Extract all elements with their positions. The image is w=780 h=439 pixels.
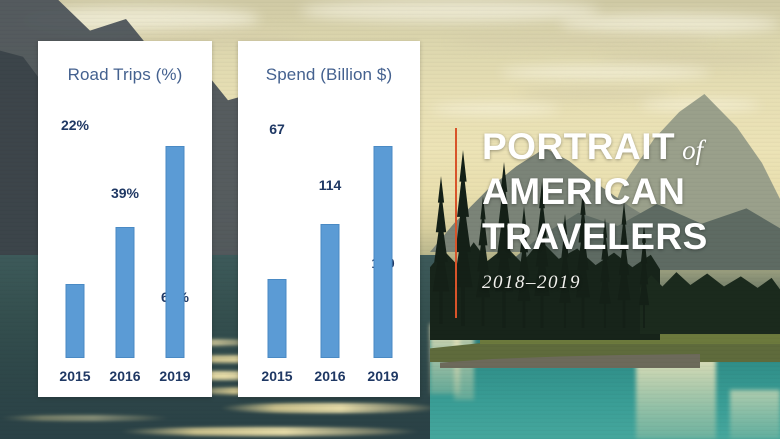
bar-group: 39% 2016 <box>98 99 152 397</box>
bar-value-label: 39% <box>111 185 139 201</box>
category-label: 2019 <box>367 368 398 384</box>
screenshot-root: Road Trips (%) 22% 2015 39% 2016 63% 201… <box>0 0 780 439</box>
orange-vertical-line <box>455 128 457 318</box>
category-label: 2015 <box>59 368 90 384</box>
sun-reflection <box>0 415 170 421</box>
cloud-shape <box>560 14 780 34</box>
bar-spend-2015[interactable] <box>268 279 287 358</box>
cloud-shape <box>450 34 710 48</box>
headline-line-travelers: TRAVELERS <box>482 218 778 255</box>
headline-line-portrait: PORTRAITof <box>482 128 778 165</box>
bar-group: 180 2019 <box>356 99 410 397</box>
bar-group: 63% 2019 <box>148 99 202 397</box>
bar-road-trips-2016[interactable] <box>116 227 135 358</box>
chart-panel-spend: Spend (Billion $) 67 2015 114 2016 180 2… <box>238 41 420 397</box>
bar-value-label: 67 <box>269 121 285 137</box>
category-label: 2015 <box>261 368 292 384</box>
chart-title-road-trips: Road Trips (%) <box>38 65 212 85</box>
category-label: 2016 <box>109 368 140 384</box>
bar-spend-2019[interactable] <box>374 146 393 358</box>
headline-date-range: 2018–2019 <box>482 272 778 294</box>
headline-block: PORTRAITof AMERICAN TRAVELERS 2018–2019 <box>482 128 778 294</box>
cloud-shape <box>520 88 670 99</box>
cloud-shape <box>300 0 600 22</box>
plot-area-spend: 67 2015 114 2016 180 2019 <box>238 99 420 397</box>
headline-word-portrait: PORTRAIT <box>482 126 675 167</box>
plot-area-road-trips: 22% 2015 39% 2016 63% 2019 <box>38 99 212 397</box>
category-label: 2016 <box>314 368 345 384</box>
cloud-shape <box>600 52 780 64</box>
sun-reflection <box>220 403 440 413</box>
chart-title-spend: Spend (Billion $) <box>238 65 420 85</box>
cloud-shape <box>430 104 560 114</box>
bar-group: 22% 2015 <box>48 99 102 397</box>
category-label: 2019 <box>159 368 190 384</box>
chart-panel-road-trips: Road Trips (%) 22% 2015 39% 2016 63% 201… <box>38 41 212 397</box>
bar-spend-2016[interactable] <box>321 224 340 358</box>
cloud-shape <box>500 66 710 79</box>
bar-value-label: 114 <box>319 177 342 193</box>
bar-value-label: 22% <box>61 117 89 133</box>
headline-word-of: of <box>682 135 703 165</box>
water-reflection <box>730 390 780 439</box>
headline-line-american: AMERICAN <box>482 173 778 210</box>
bar-road-trips-2019[interactable] <box>166 146 185 358</box>
sun-reflection <box>120 427 420 436</box>
bar-road-trips-2015[interactable] <box>66 284 85 358</box>
bar-group: 114 2016 <box>303 99 357 397</box>
bar-group: 67 2015 <box>250 99 304 397</box>
